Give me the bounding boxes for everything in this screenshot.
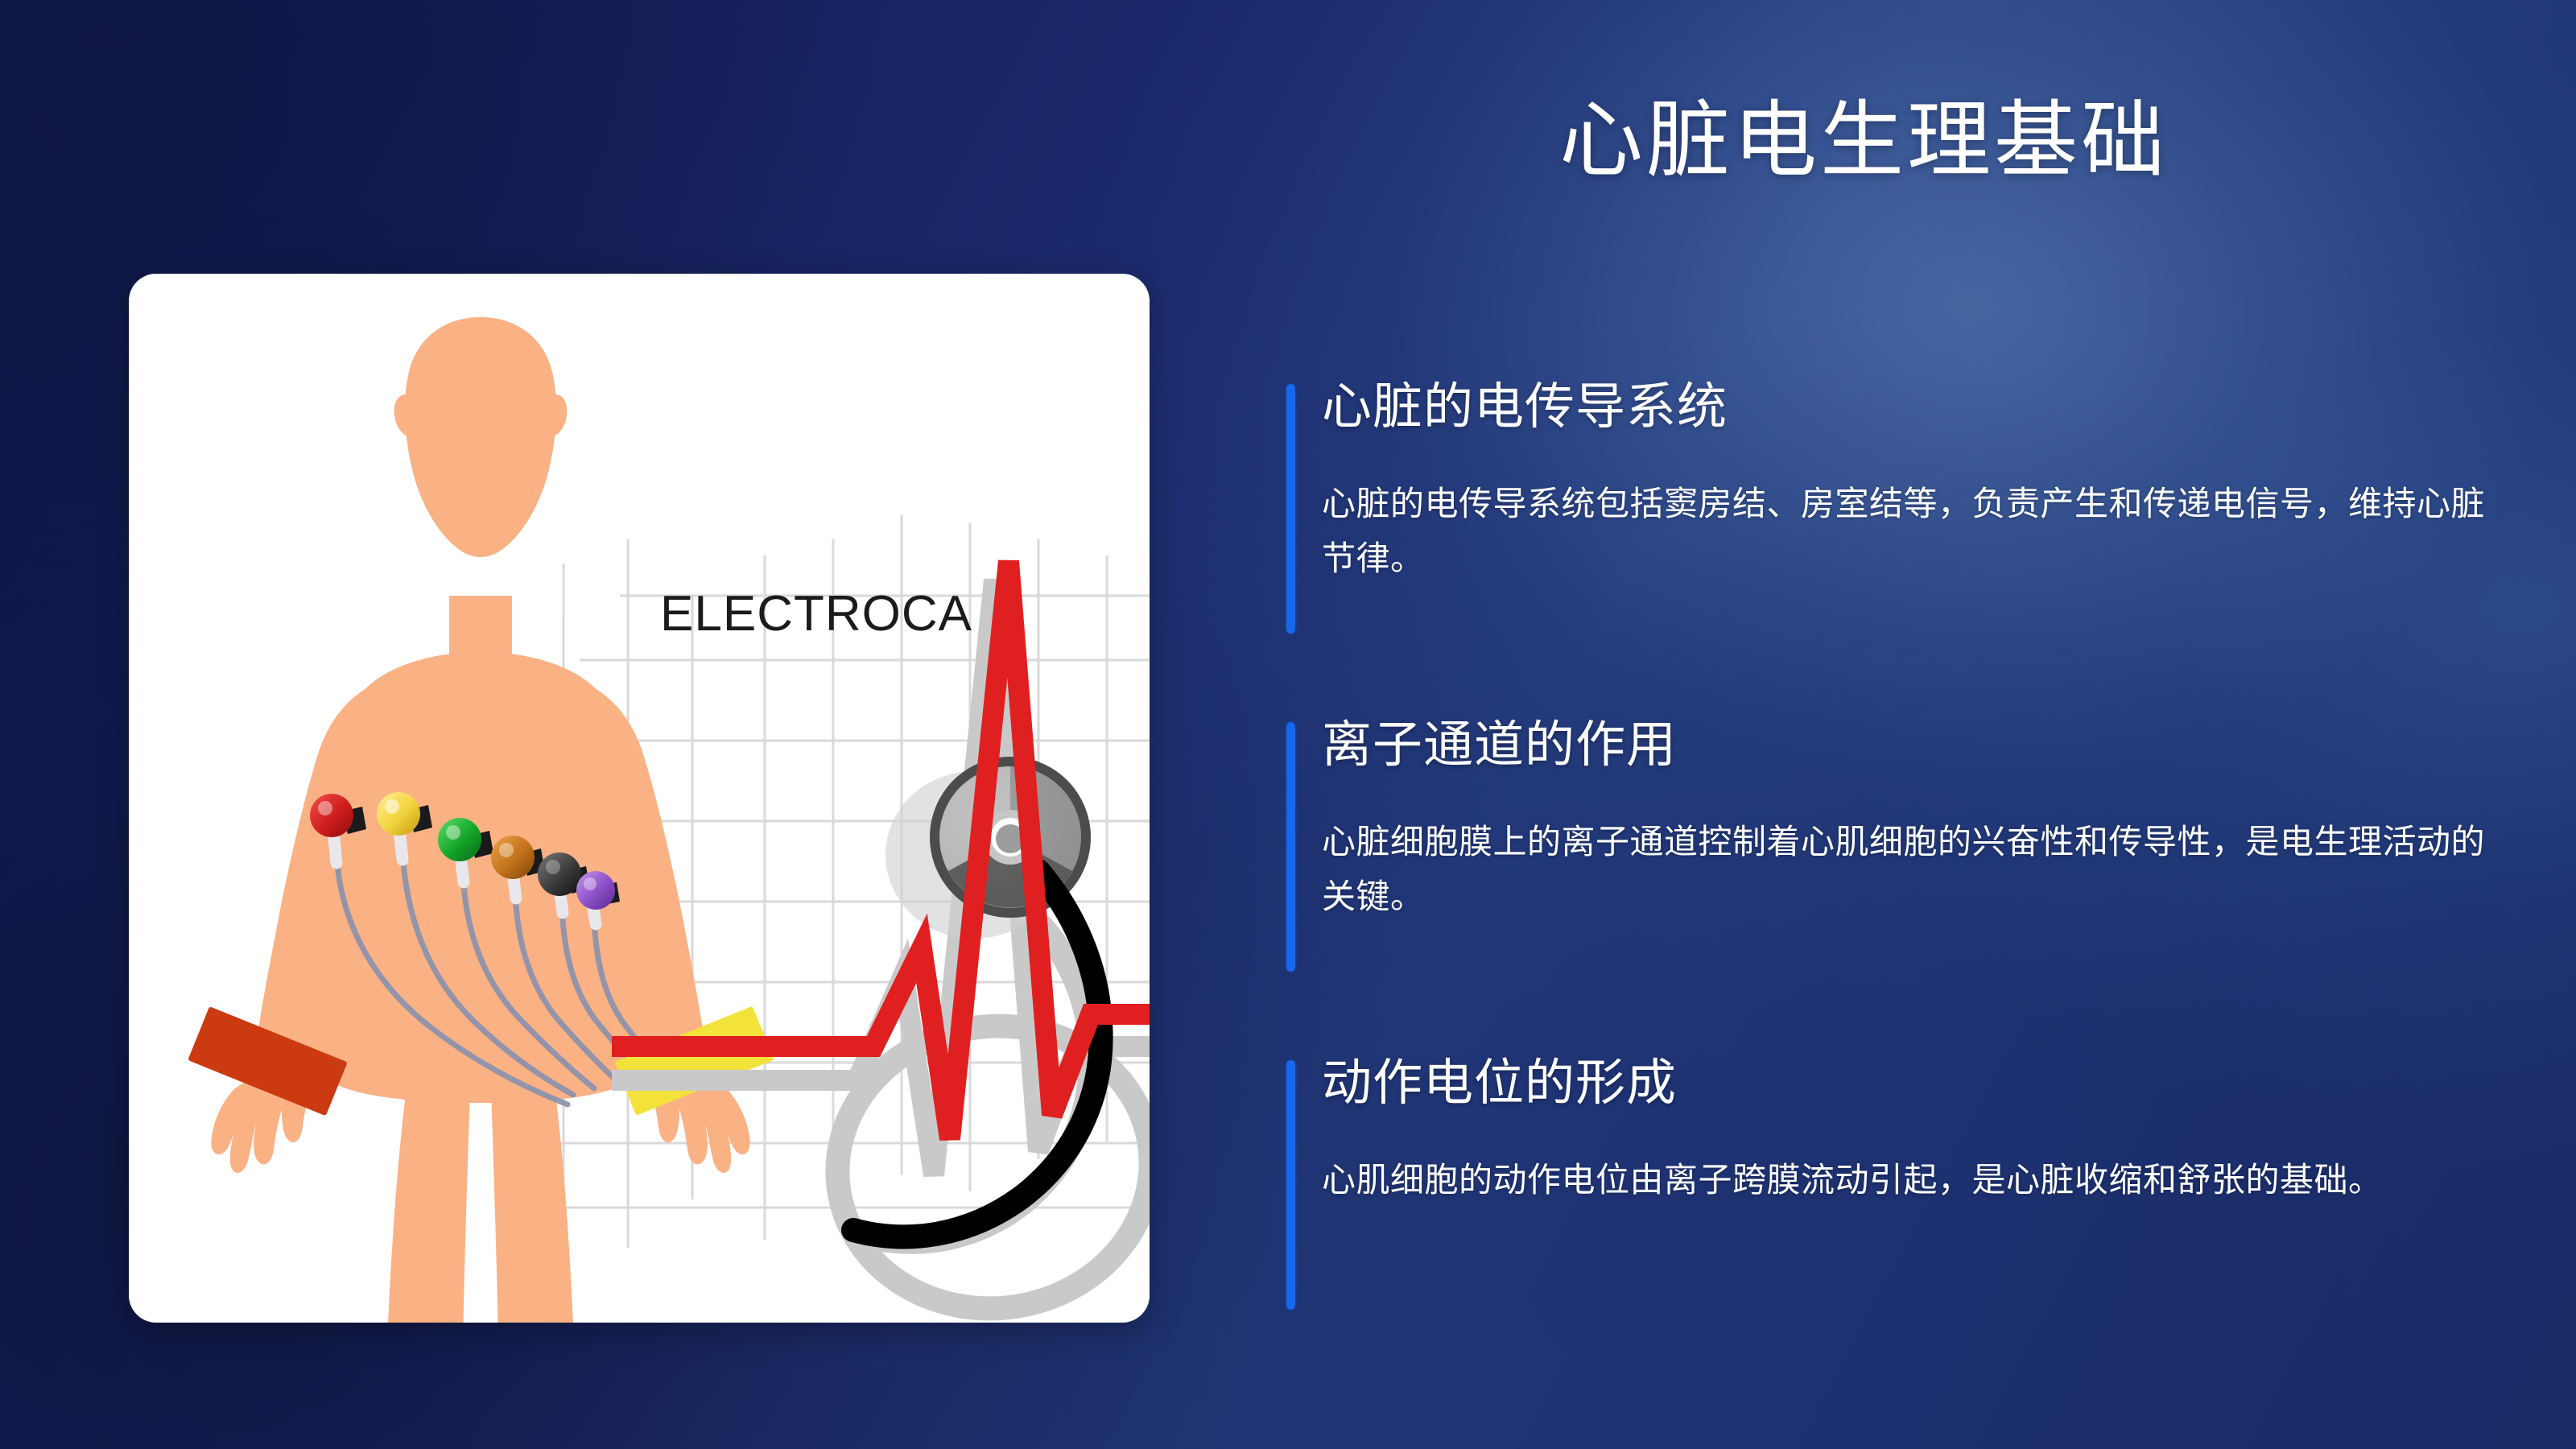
section-3-body: 心肌细胞的动作电位由离子跨膜流动引起，是心脏收缩和舒张的基础。: [1322, 1153, 2513, 1207]
electrode-v3: [438, 818, 481, 861]
electrode-v2: [377, 792, 420, 836]
electrode-v6: [576, 871, 615, 910]
electrode-v4: [491, 836, 535, 879]
card-label-electrocardiogram: ELECTROCA: [660, 585, 972, 642]
accent-bar-3: [1286, 1060, 1295, 1310]
section-2-heading: 离子通道的作用: [1322, 717, 1677, 773]
accent-bar-1: [1286, 384, 1295, 634]
section-3-heading: 动作电位的形成: [1322, 1055, 1677, 1111]
bullet-section-2: 离子通道的作用 心脏细胞膜上的离子通道控制着心肌细胞的兴奋性和传导性，是电生理活…: [1286, 722, 2510, 972]
electrode-v1: [310, 794, 353, 837]
electrode-v5: [538, 852, 581, 896]
illustration-card: ELECTROCA: [129, 274, 1150, 1323]
section-1-body: 心脏的电传导系统包括窦房结、房室结等，负责产生和传递电信号，维持心脏节律。: [1322, 477, 2513, 586]
accent-bar-2: [1286, 722, 1295, 972]
section-2-body: 心脏细胞膜上的离子通道控制着心肌细胞的兴奋性和传导性，是电生理活动的关键。: [1322, 815, 2513, 924]
page-title: 心脏电生理基础: [1216, 95, 2512, 187]
bullet-section-3: 动作电位的形成 心肌细胞的动作电位由离子跨膜流动引起，是心脏收缩和舒张的基础。: [1286, 1060, 2510, 1310]
bullet-section-1: 心脏的电传导系统 心脏的电传导系统包括窦房结、房室结等，负责产生和传递电信号，维…: [1286, 384, 2510, 634]
section-1-heading: 心脏的电传导系统: [1322, 379, 1728, 435]
ecg-electrode-placement-illustration: [129, 274, 1150, 1323]
